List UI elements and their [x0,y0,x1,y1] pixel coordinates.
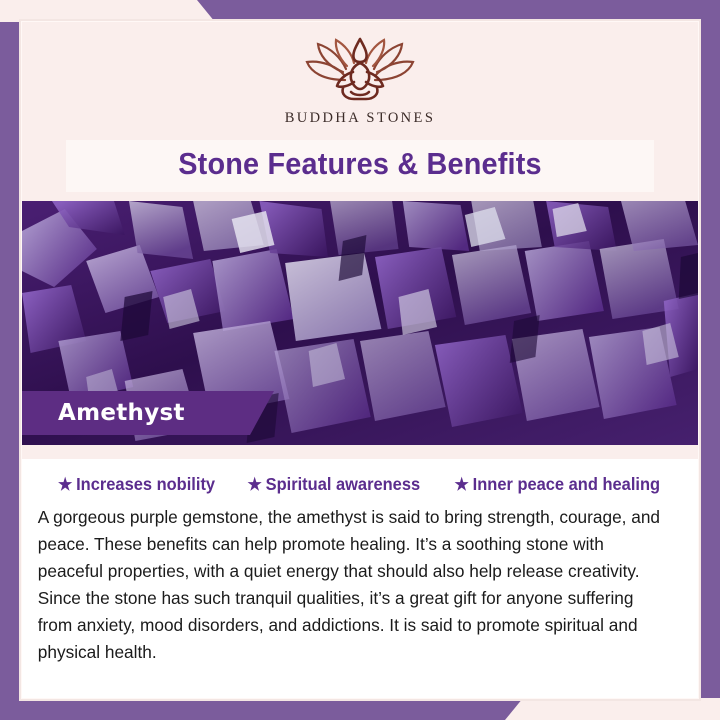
star-icon: ★ [248,476,262,493]
star-icon: ★ [455,476,469,493]
frame-notch-bottom-right [505,698,720,720]
stone-photo: Amethyst [22,201,698,445]
content-card: BUDDHA STONES Stone Features & Benefits [22,22,698,698]
content-top-strip [22,445,698,459]
page-title: Stone Features & Benefits [87,146,634,182]
stone-details: ★ Increases nobility ★ Spiritual awarene… [22,445,698,698]
benefit-label: Spiritual awareness [266,474,421,495]
star-icon: ★ [58,476,72,493]
brand-name: BUDDHA STONES [285,110,436,127]
benefit-item: ★ Increases nobility [58,474,215,495]
stone-name: Amethyst [58,400,185,426]
title-band: Stone Features & Benefits [66,140,654,192]
benefit-item: ★ Spiritual awareness [248,474,421,495]
brand-header: BUDDHA STONES [22,22,698,127]
stone-name-banner: Amethyst [22,391,274,435]
stone-description: A gorgeous purple gemstone, the amethyst… [30,504,670,666]
benefit-label: Increases nobility [76,474,215,495]
benefit-label: Inner peace and healing [473,474,660,495]
frame-notch-top-left [0,0,215,22]
lotus-meditation-icon [301,36,419,104]
benefit-item: ★ Inner peace and healing [455,474,661,495]
